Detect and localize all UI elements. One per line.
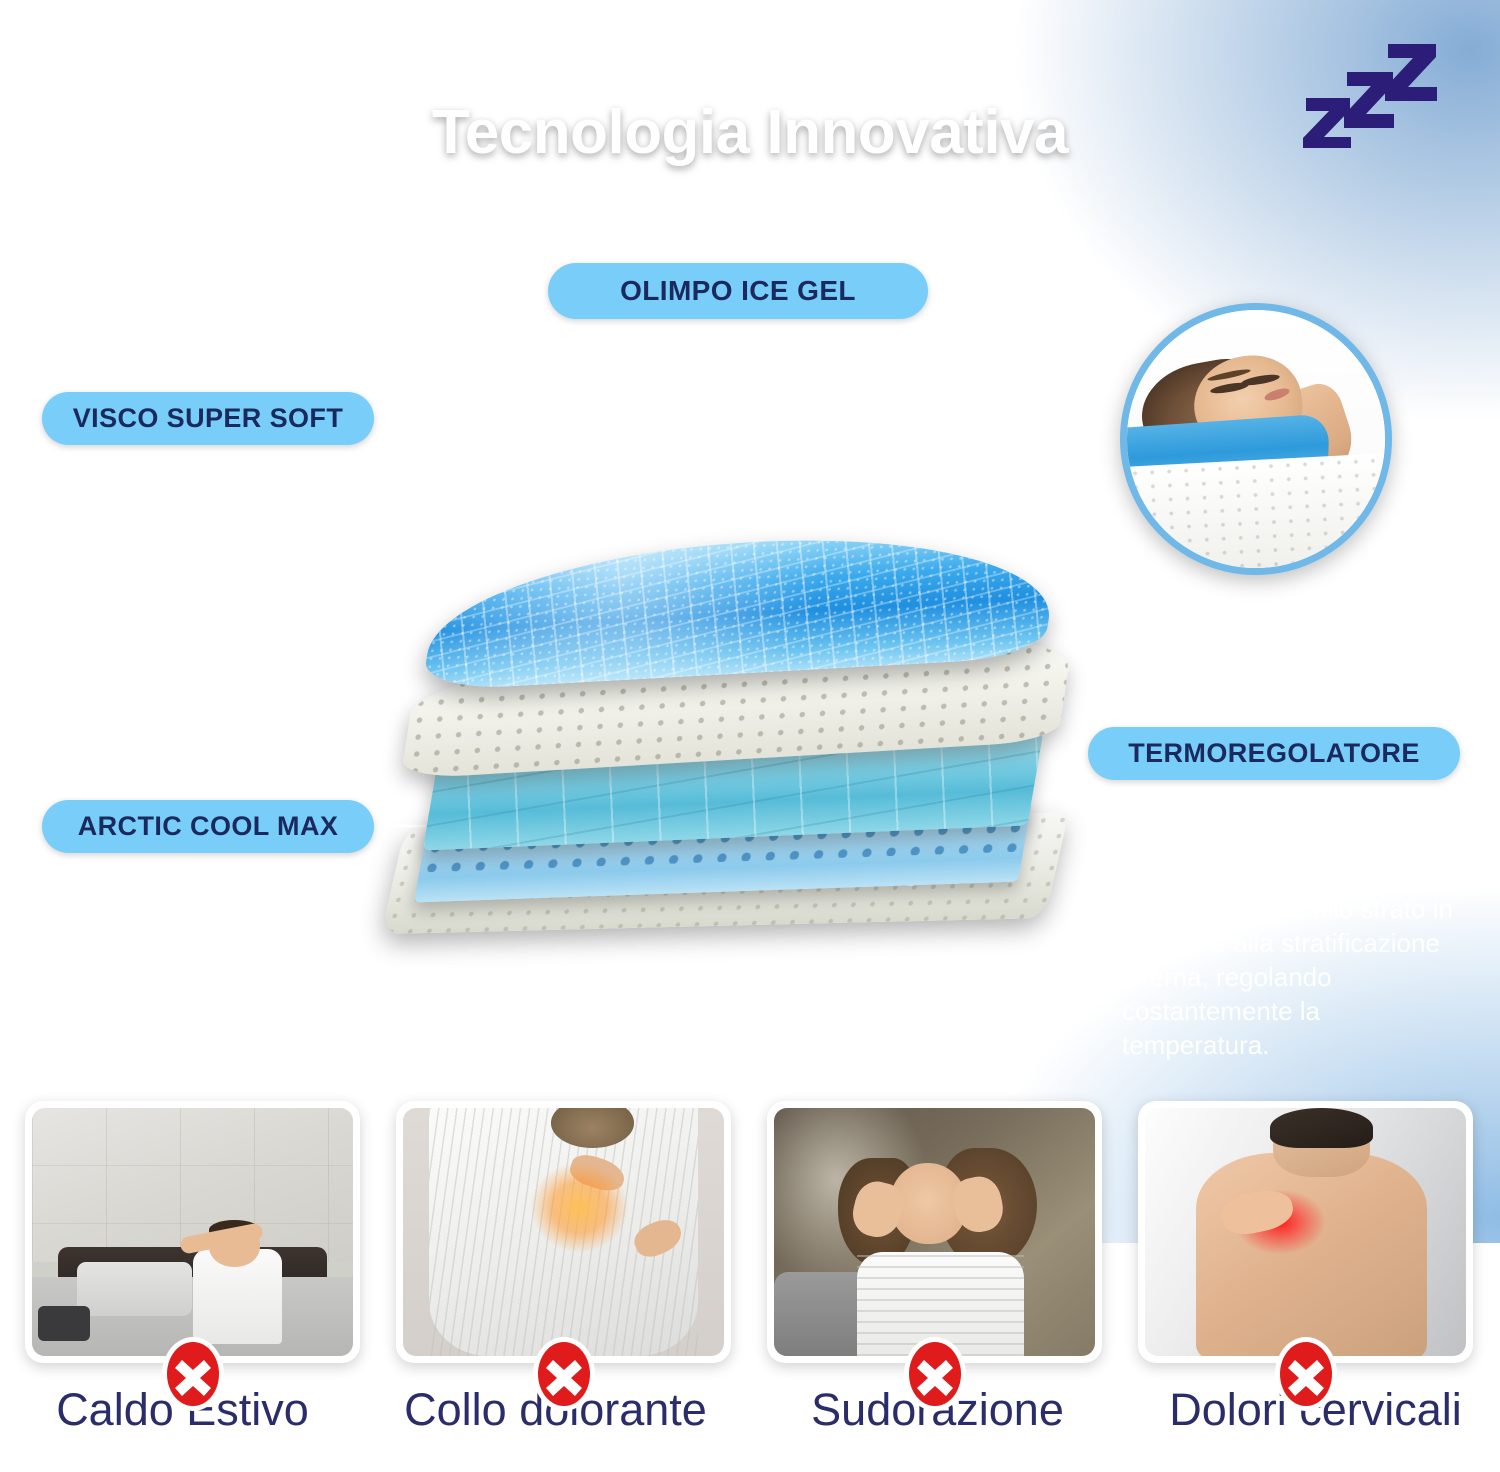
red-x-icon: [533, 1337, 595, 1411]
woman-sleeping-photo: [1120, 303, 1392, 575]
pillow-layers-illustration: [395, 520, 1095, 940]
badge-visco-super-soft[interactable]: VISCO SUPER SOFT: [42, 392, 374, 445]
red-x-icon: [1275, 1337, 1337, 1411]
infographic-stage: Tecnologia Innovativa: [0, 0, 1500, 1472]
text-termoregolatore: Traspirante e Termoregolatore, mantiene …: [1122, 792, 1462, 1062]
card-image-dolori-cervicali: [1145, 1108, 1466, 1356]
problem-card: [1138, 1101, 1473, 1363]
problem-card: [767, 1101, 1102, 1363]
text-visco-super-soft: Uno speciale tipo di Memory Foam che ha …: [80, 472, 345, 675]
badge-arctic-cool-max[interactable]: ARCTIC COOL MAX: [42, 800, 374, 853]
problem-card: [396, 1101, 731, 1363]
text-arctic-cool-max: Questo strato innovativo brevettato da n…: [72, 870, 392, 1073]
text-olimpo-ice-gel: Lo strato superiore in Ice Gel regola la…: [470, 342, 1010, 477]
badge-termoregolatore[interactable]: TERMOREGOLATORE: [1088, 727, 1460, 780]
zzz-sleep-icon: [1292, 38, 1442, 148]
red-x-icon: [904, 1337, 966, 1411]
card-image-sudorazione: [774, 1108, 1095, 1356]
card-image-caldo-estivo: [32, 1108, 353, 1356]
problem-card: [25, 1101, 360, 1363]
badge-olimpo-ice-gel[interactable]: OLIMPO ICE GEL: [548, 263, 928, 319]
red-x-icon: [162, 1337, 224, 1411]
card-image-collo-dolorante: [403, 1108, 724, 1356]
problem-cards-row: [0, 1101, 1500, 1366]
page-title: Tecnologia Innovativa: [0, 97, 1500, 168]
